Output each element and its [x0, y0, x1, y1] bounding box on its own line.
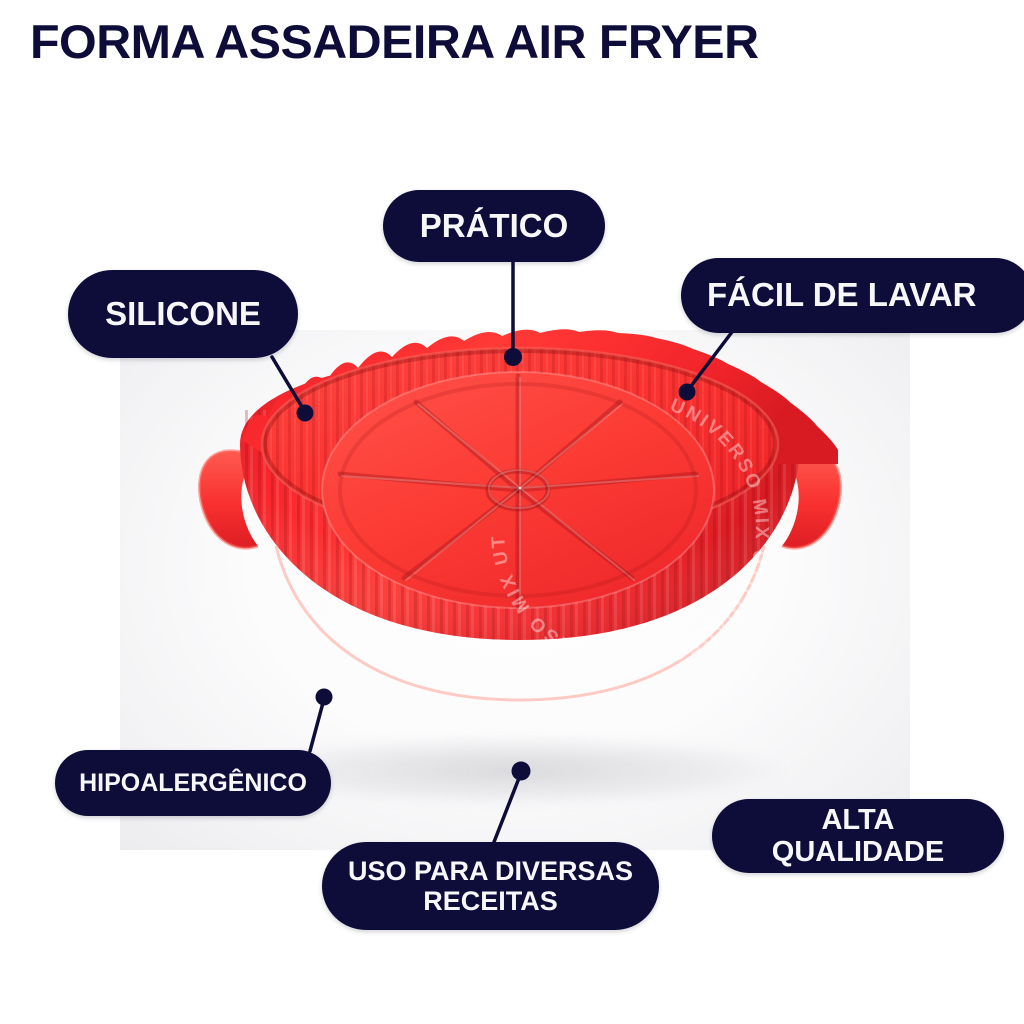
feature-badge-pratico[interactable]: PRÁTICO: [383, 190, 605, 262]
product-image: [180, 340, 860, 820]
feature-badge-label: FÁCIL DE LAVAR: [707, 277, 977, 314]
basket-base-plate: [322, 372, 714, 608]
feature-badge-hipoalergenico[interactable]: HIPOALERGÊNICO: [55, 750, 331, 816]
infographic-canvas: FORMA ASSADEIRA AIR FRYER: [0, 0, 1024, 1024]
feature-badge-facil-de-lavar[interactable]: FÁCIL DE LAVAR: [681, 258, 1024, 333]
feature-badge-label: SILICONE: [105, 296, 261, 333]
page-title: FORMA ASSADEIRA AIR FRYER: [30, 14, 759, 70]
feature-badge-label: PRÁTICO: [420, 208, 569, 245]
feature-badge-uso-diversas-receitas[interactable]: USO PARA DIVERSAS RECEITAS: [322, 842, 659, 930]
feature-badge-label: USO PARA DIVERSAS RECEITAS: [348, 856, 633, 916]
feature-badge-silicone[interactable]: SILICONE: [68, 270, 298, 358]
feature-badge-label: ALTA QUALIDADE: [734, 804, 982, 869]
feature-badge-label: HIPOALERGÊNICO: [79, 769, 307, 797]
feature-badge-alta-qualidade[interactable]: ALTA QUALIDADE: [712, 799, 1004, 873]
